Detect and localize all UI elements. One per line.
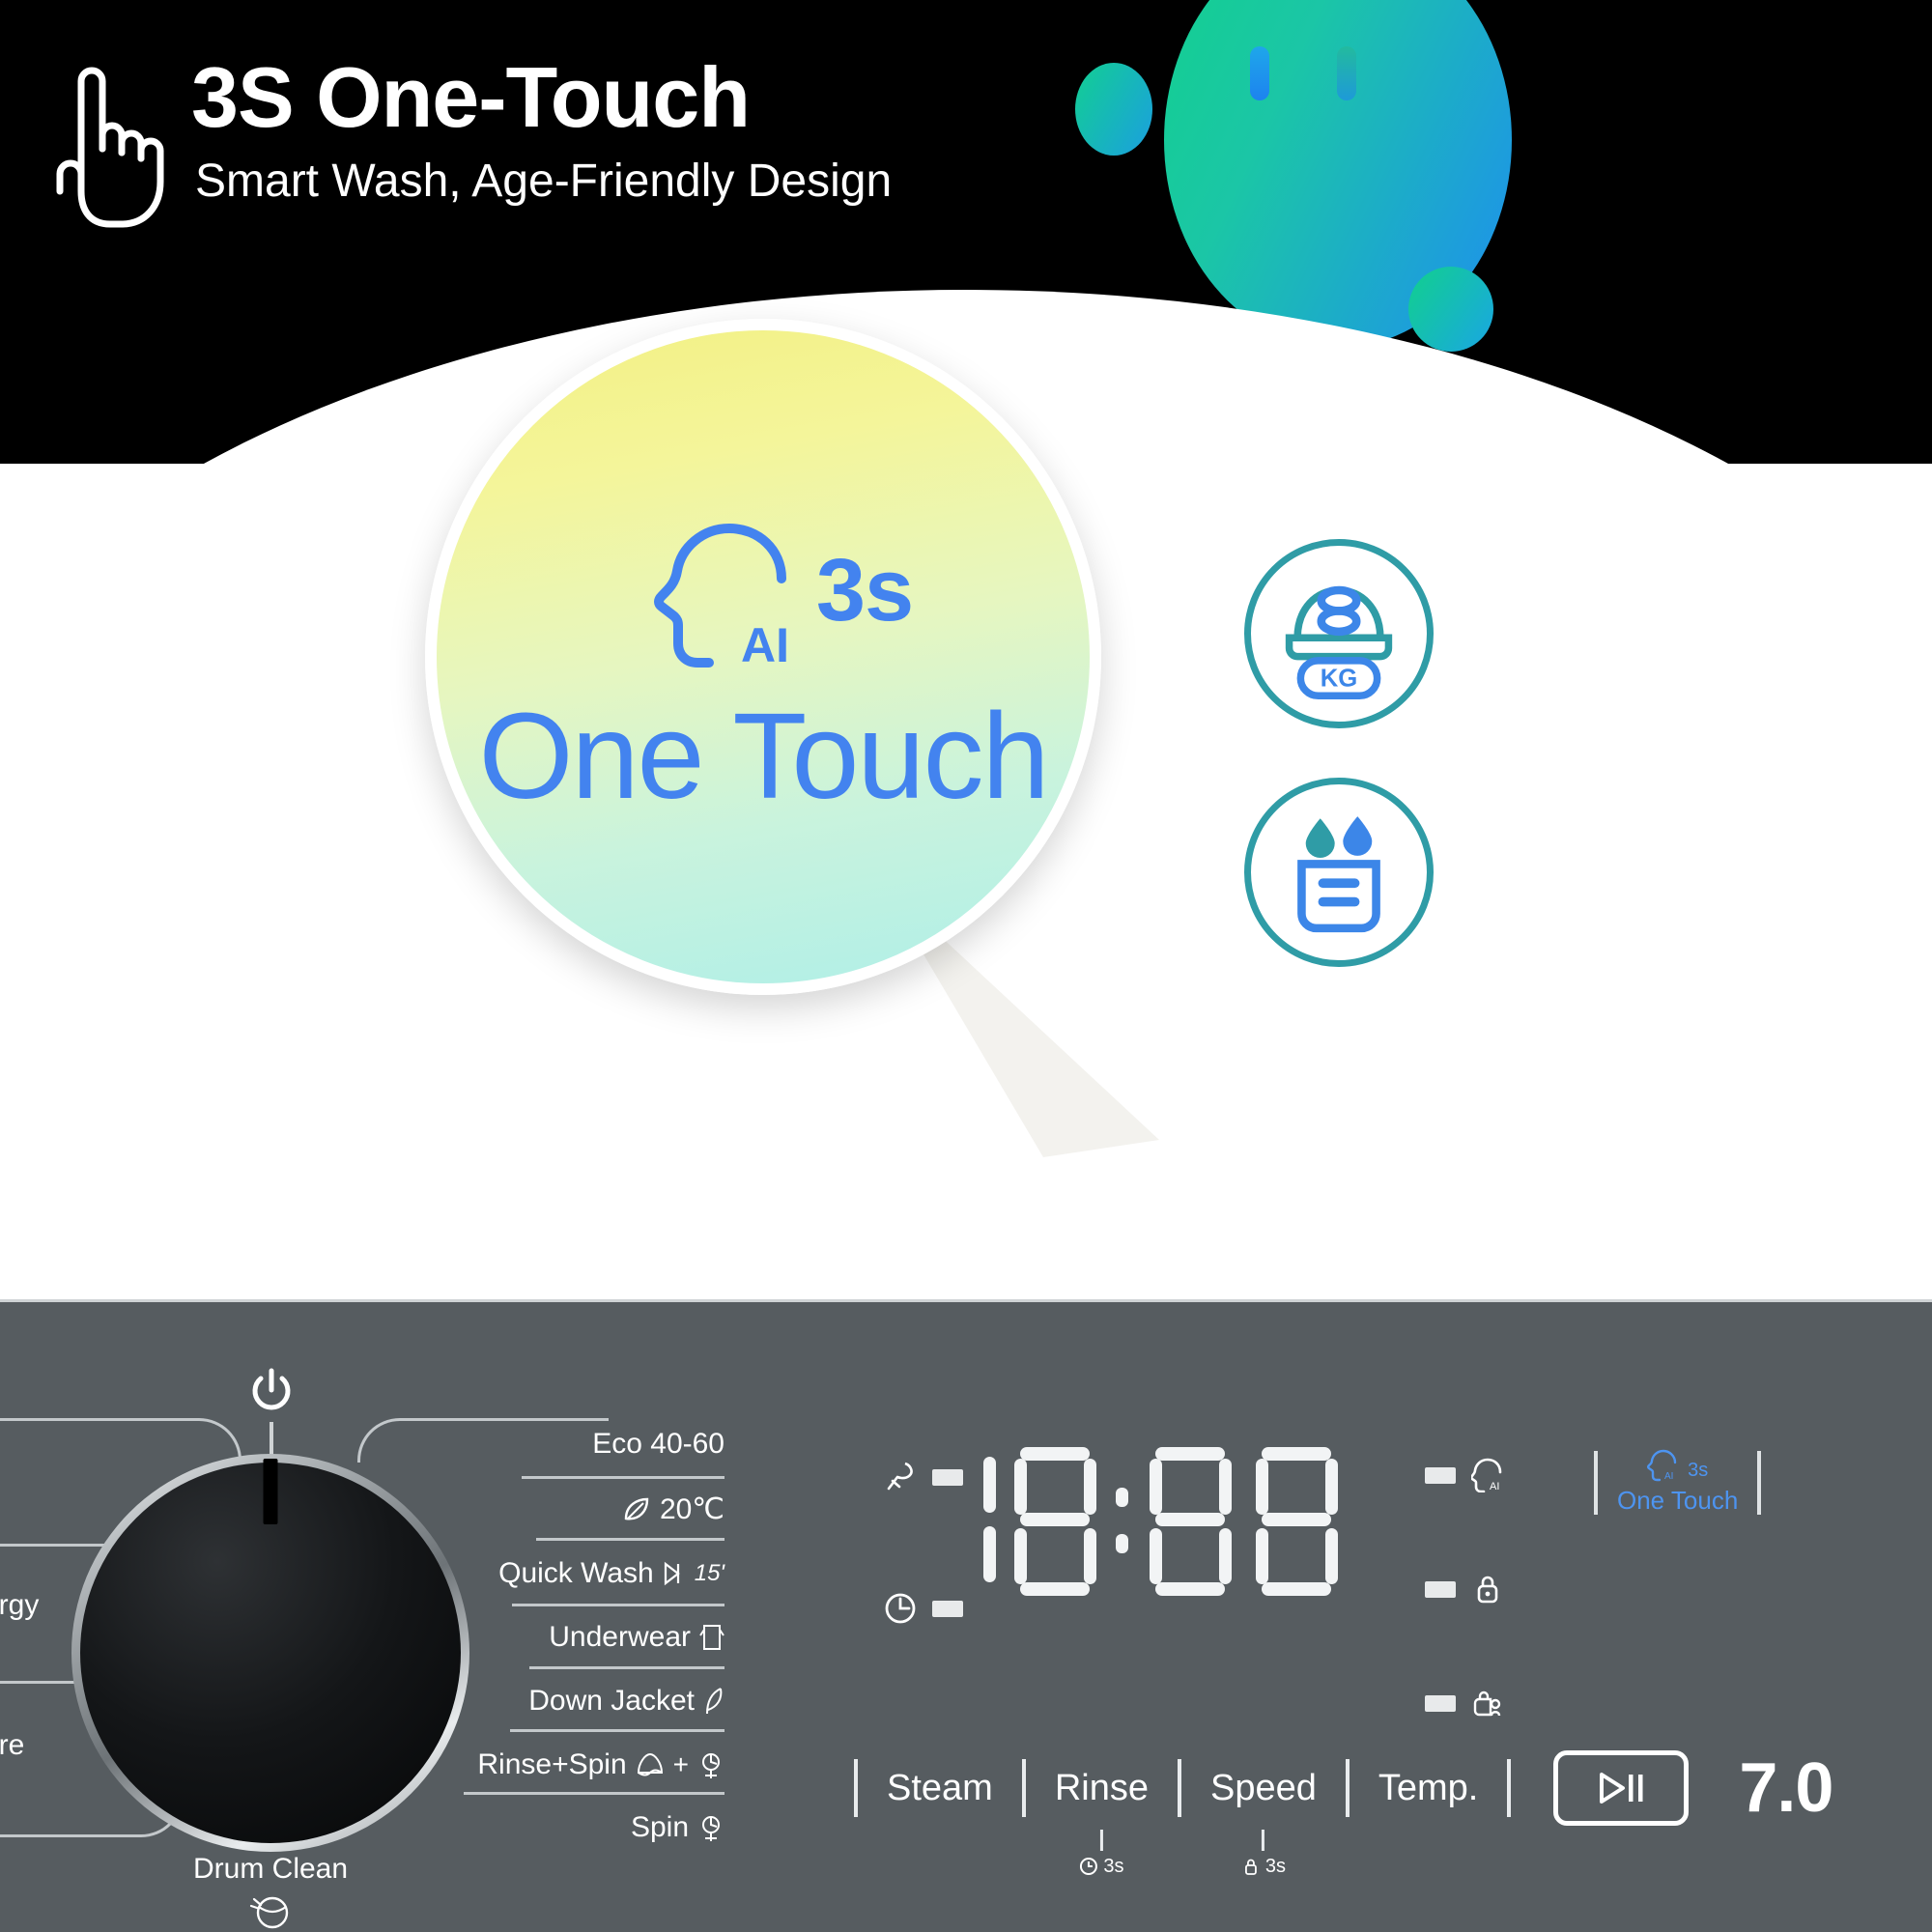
one-touch-seconds: 3s bbox=[1688, 1460, 1708, 1482]
spin-icon bbox=[697, 1750, 724, 1779]
feather-icon bbox=[703, 1686, 724, 1717]
capacity-badge: KG bbox=[1244, 539, 1434, 728]
power-icon[interactable] bbox=[249, 1367, 294, 1417]
page-title: 3S One-Touch bbox=[191, 53, 750, 142]
lock-icon bbox=[1241, 1857, 1261, 1876]
fast-icon bbox=[663, 1561, 686, 1586]
blob-small bbox=[1075, 63, 1152, 156]
svg-text:AI: AI bbox=[1490, 1481, 1499, 1492]
start-pause-button[interactable] bbox=[1553, 1750, 1689, 1826]
drum-8kg-icon: KG bbox=[1266, 561, 1411, 706]
rail-l1 bbox=[0, 1544, 106, 1547]
program-underwear[interactable]: Underwear bbox=[328, 1621, 724, 1654]
clock-icon bbox=[1079, 1857, 1098, 1876]
child-lock-icon bbox=[1471, 1686, 1504, 1720]
pill-left bbox=[1250, 46, 1269, 100]
program-label: Rinse+Spin bbox=[477, 1748, 626, 1781]
svg-text:KG: KG bbox=[1321, 666, 1358, 693]
display-left-indicators bbox=[884, 1441, 963, 1644]
capacity-text: 7.0 bbox=[1739, 1748, 1833, 1828]
blob-tiny bbox=[1408, 267, 1493, 352]
rail-l2 bbox=[0, 1681, 85, 1684]
drum-clean-icon bbox=[247, 1893, 298, 1932]
button-rinse[interactable]: Rinse 3s bbox=[1030, 1768, 1174, 1809]
indicator-lock bbox=[1425, 1553, 1504, 1625]
indicator-detergent bbox=[884, 1441, 963, 1513]
indicator-dash bbox=[1425, 1581, 1456, 1598]
program-care[interactable]: are bbox=[0, 1729, 24, 1762]
button-temp[interactable]: Temp. bbox=[1353, 1768, 1503, 1809]
program-energy[interactable]: ergy bbox=[0, 1589, 39, 1622]
program-label: Eco 40-60 bbox=[592, 1428, 724, 1461]
divider bbox=[1507, 1759, 1511, 1817]
program-eco-40-60[interactable]: Eco 40-60 bbox=[328, 1428, 724, 1461]
seven-segment-display bbox=[966, 1437, 1410, 1606]
button-label: Speed bbox=[1210, 1768, 1317, 1808]
program-label: Quick Wash bbox=[498, 1557, 654, 1590]
divider bbox=[1178, 1759, 1181, 1817]
indicator-dash bbox=[1425, 1467, 1456, 1484]
rail-5 bbox=[510, 1729, 724, 1732]
rail-4 bbox=[529, 1666, 724, 1669]
divider bbox=[854, 1759, 858, 1817]
clock-delay-icon bbox=[884, 1591, 917, 1626]
bubble-headline: One Touch bbox=[478, 696, 1047, 817]
rail-3 bbox=[512, 1604, 724, 1606]
rail-curve-top-left bbox=[0, 1418, 241, 1463]
display-right-indicators: AI bbox=[1425, 1439, 1504, 1739]
underwear-icon bbox=[699, 1622, 724, 1653]
hold-seconds: 3s bbox=[1103, 1856, 1123, 1878]
indicator-dash bbox=[1425, 1695, 1456, 1712]
program-label: Spin bbox=[631, 1811, 689, 1844]
page-subtitle: Smart Wash, Age-Friendly Design bbox=[195, 155, 892, 208]
hold-seconds: 3s bbox=[1265, 1856, 1286, 1878]
ai-head-small-icon: AI bbox=[1647, 1449, 1680, 1482]
divider-left bbox=[1594, 1451, 1598, 1515]
plus-sign: + bbox=[673, 1749, 689, 1780]
one-touch-bubble: AI 3s One Touch bbox=[425, 319, 1101, 995]
indicator-child-lock bbox=[1425, 1667, 1504, 1739]
divider bbox=[1346, 1759, 1350, 1817]
button-row: Steam Rinse 3s Speed bbox=[850, 1748, 1833, 1828]
rinse-icon bbox=[636, 1751, 665, 1778]
hold-stem bbox=[1262, 1830, 1264, 1851]
one-touch-panel-badge[interactable]: AI 3s One Touch bbox=[1594, 1449, 1761, 1516]
indicator-ai: AI bbox=[1425, 1439, 1504, 1511]
program-sub: 15' bbox=[695, 1560, 724, 1587]
ai-head-small-icon: AI bbox=[1471, 1458, 1504, 1492]
pointing-hand-icon bbox=[56, 60, 172, 229]
button-speed[interactable]: Speed 3s bbox=[1185, 1768, 1342, 1809]
program-down-jacket[interactable]: Down Jacket bbox=[328, 1685, 724, 1718]
water-drops-tub-icon bbox=[1266, 800, 1411, 945]
bubble-top-row: AI 3s bbox=[637, 515, 913, 674]
divider bbox=[1022, 1759, 1026, 1817]
program-spin[interactable]: Spin bbox=[328, 1811, 724, 1844]
indicator-dash bbox=[932, 1601, 963, 1617]
svg-text:AI: AI bbox=[1664, 1471, 1673, 1482]
program-label: Down Jacket bbox=[528, 1685, 695, 1718]
bubble-seconds: 3s bbox=[816, 546, 913, 635]
button-label: Rinse bbox=[1055, 1768, 1149, 1808]
rail-1 bbox=[522, 1476, 724, 1479]
dial-indicator-mark bbox=[264, 1459, 278, 1524]
play-pause-icon bbox=[1594, 1769, 1648, 1807]
button-steam[interactable]: Steam bbox=[862, 1768, 1018, 1809]
one-touch-label: One Touch bbox=[1617, 1486, 1738, 1516]
program-20c[interactable]: 20℃ bbox=[328, 1492, 724, 1526]
rail-6 bbox=[464, 1792, 724, 1795]
rinse-hold-hint: 3s bbox=[1079, 1830, 1123, 1878]
button-label: Steam bbox=[887, 1768, 993, 1808]
lock-icon bbox=[1471, 1572, 1504, 1606]
spin-icon bbox=[697, 1813, 724, 1842]
rail-2 bbox=[536, 1538, 724, 1541]
program-rinse-plus-spin[interactable]: Rinse+Spin + bbox=[290, 1748, 724, 1781]
indicator-dash bbox=[932, 1469, 963, 1486]
program-label: Underwear bbox=[549, 1621, 691, 1654]
program-drum-clean[interactable]: Drum Clean bbox=[193, 1853, 348, 1886]
button-label: Temp. bbox=[1378, 1768, 1478, 1808]
svg-text:AI: AI bbox=[741, 618, 789, 672]
ai-head-profile-icon: AI bbox=[637, 515, 791, 674]
leaf-20c-icon bbox=[622, 1495, 651, 1524]
water-badge bbox=[1244, 778, 1434, 967]
program-quick-wash[interactable]: Quick Wash 15' bbox=[328, 1557, 724, 1590]
divider-right bbox=[1757, 1451, 1761, 1515]
indicator-delay bbox=[884, 1573, 963, 1644]
infographic-canvas: 3S One-Touch Smart Wash, Age-Friendly De… bbox=[0, 0, 1932, 1932]
program-sub: 20℃ bbox=[660, 1492, 724, 1526]
pill-right bbox=[1337, 46, 1356, 100]
speed-hold-hint: 3s bbox=[1241, 1830, 1286, 1878]
hold-stem bbox=[1100, 1830, 1103, 1851]
detergent-icon bbox=[884, 1460, 917, 1494]
